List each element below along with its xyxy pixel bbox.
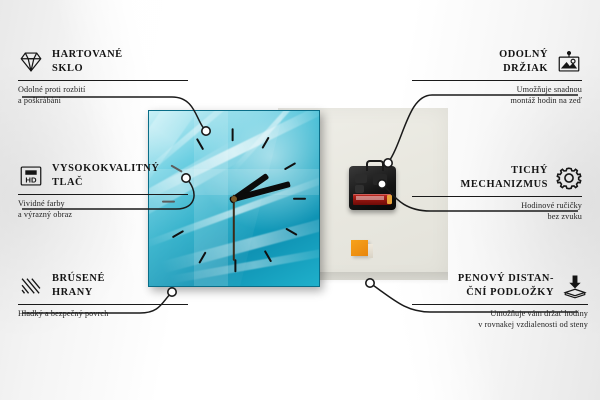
foam-spacer-shadow: [368, 244, 373, 258]
battery-terminal: [387, 195, 392, 204]
svg-text:HD: HD: [25, 175, 37, 184]
feature-title: PENOVÝ DISTAN- ČNÍ PODLOŽKY: [458, 272, 554, 299]
press-pad-icon: [562, 273, 588, 299]
feature-description: Hodinové ručičky bez zvuku: [412, 201, 582, 222]
foam-spacer-pad: [351, 240, 368, 256]
feature-header: HARTOVANÉ SKLO: [18, 48, 188, 75]
feature-header: HD VYSOKOKVALITNÝ TLAČ: [18, 162, 188, 189]
feature-divider: [412, 196, 582, 197]
feature-divider: [18, 194, 188, 195]
feature-divider: [412, 80, 582, 81]
feature-header: TICHÝ MECHANIZMUS: [412, 164, 582, 191]
clock-tick: [234, 259, 236, 272]
ultra-hd-icon: HD: [18, 163, 44, 189]
feature-divider: [18, 304, 188, 305]
diamond-icon: [18, 49, 44, 75]
product-scene: [148, 108, 448, 286]
feature-title: ODOLNÝ DRŽIAK: [499, 48, 548, 75]
feature-foam-spacers: PENOVÝ DISTAN- ČNÍ PODLOŽKY Umožňuje vám…: [412, 272, 588, 330]
clock-mechanism: [349, 166, 396, 210]
feature-title: VYSOKOKVALITNÝ TLAČ: [52, 162, 159, 189]
beveled-edges-icon: [18, 273, 44, 299]
feature-silent-mechanism: TICHÝ MECHANIZMUS Hodinové ručičky bez z…: [412, 164, 582, 222]
feature-description: Hladký a bezpečný povrch: [18, 309, 188, 320]
mechanism-detail: [355, 185, 364, 193]
gear-icon: [556, 165, 582, 191]
feature-durable-holder: ODOLNÝ DRŽIAK Umožňuje snadnou montáž ho…: [412, 48, 582, 106]
feature-description: Vividné farby a výrazný obraz: [18, 199, 188, 220]
mechanism-detail: [355, 174, 367, 183]
feature-header: BRÚSENÉ HRANY: [18, 272, 188, 299]
feature-divider: [18, 80, 188, 81]
battery: [353, 194, 391, 205]
clock-center-pin: [231, 196, 237, 202]
feature-beveled-edges: BRÚSENÉ HRANY Hladký a bezpečný povrch: [18, 272, 188, 320]
feature-header: PENOVÝ DISTAN- ČNÍ PODLOŽKY: [412, 272, 588, 299]
picture-hanger-icon: [556, 49, 582, 75]
battery-label: [356, 196, 384, 200]
feature-high-quality-print: HD VYSOKOKVALITNÝ TLAČ Vividné farby a v…: [18, 162, 188, 220]
feature-divider: [412, 304, 588, 305]
mechanism-detail: [373, 174, 387, 185]
feature-description: Odolné proti rozbití a poškrábání: [18, 85, 188, 106]
feature-header: ODOLNÝ DRŽIAK: [412, 48, 582, 75]
feature-description: Umožňuje snadnou montáž hodin na zeď: [412, 85, 582, 106]
feature-title: HARTOVANÉ SKLO: [52, 48, 123, 75]
feature-title: TICHÝ MECHANIZMUS: [461, 164, 548, 191]
promo-infographic: HARTOVANÉ SKLO Odolné proti rozbití a po…: [0, 0, 600, 400]
feature-title: BRÚSENÉ HRANY: [52, 272, 105, 299]
feature-tempered-glass: HARTOVANÉ SKLO Odolné proti rozbití a po…: [18, 48, 188, 106]
feature-description: Umožňuje vám držať hodiny v rovnakej vzd…: [412, 309, 588, 330]
clock-tick: [293, 197, 306, 199]
mechanism-hook: [366, 160, 384, 171]
second-hand: [233, 195, 235, 261]
